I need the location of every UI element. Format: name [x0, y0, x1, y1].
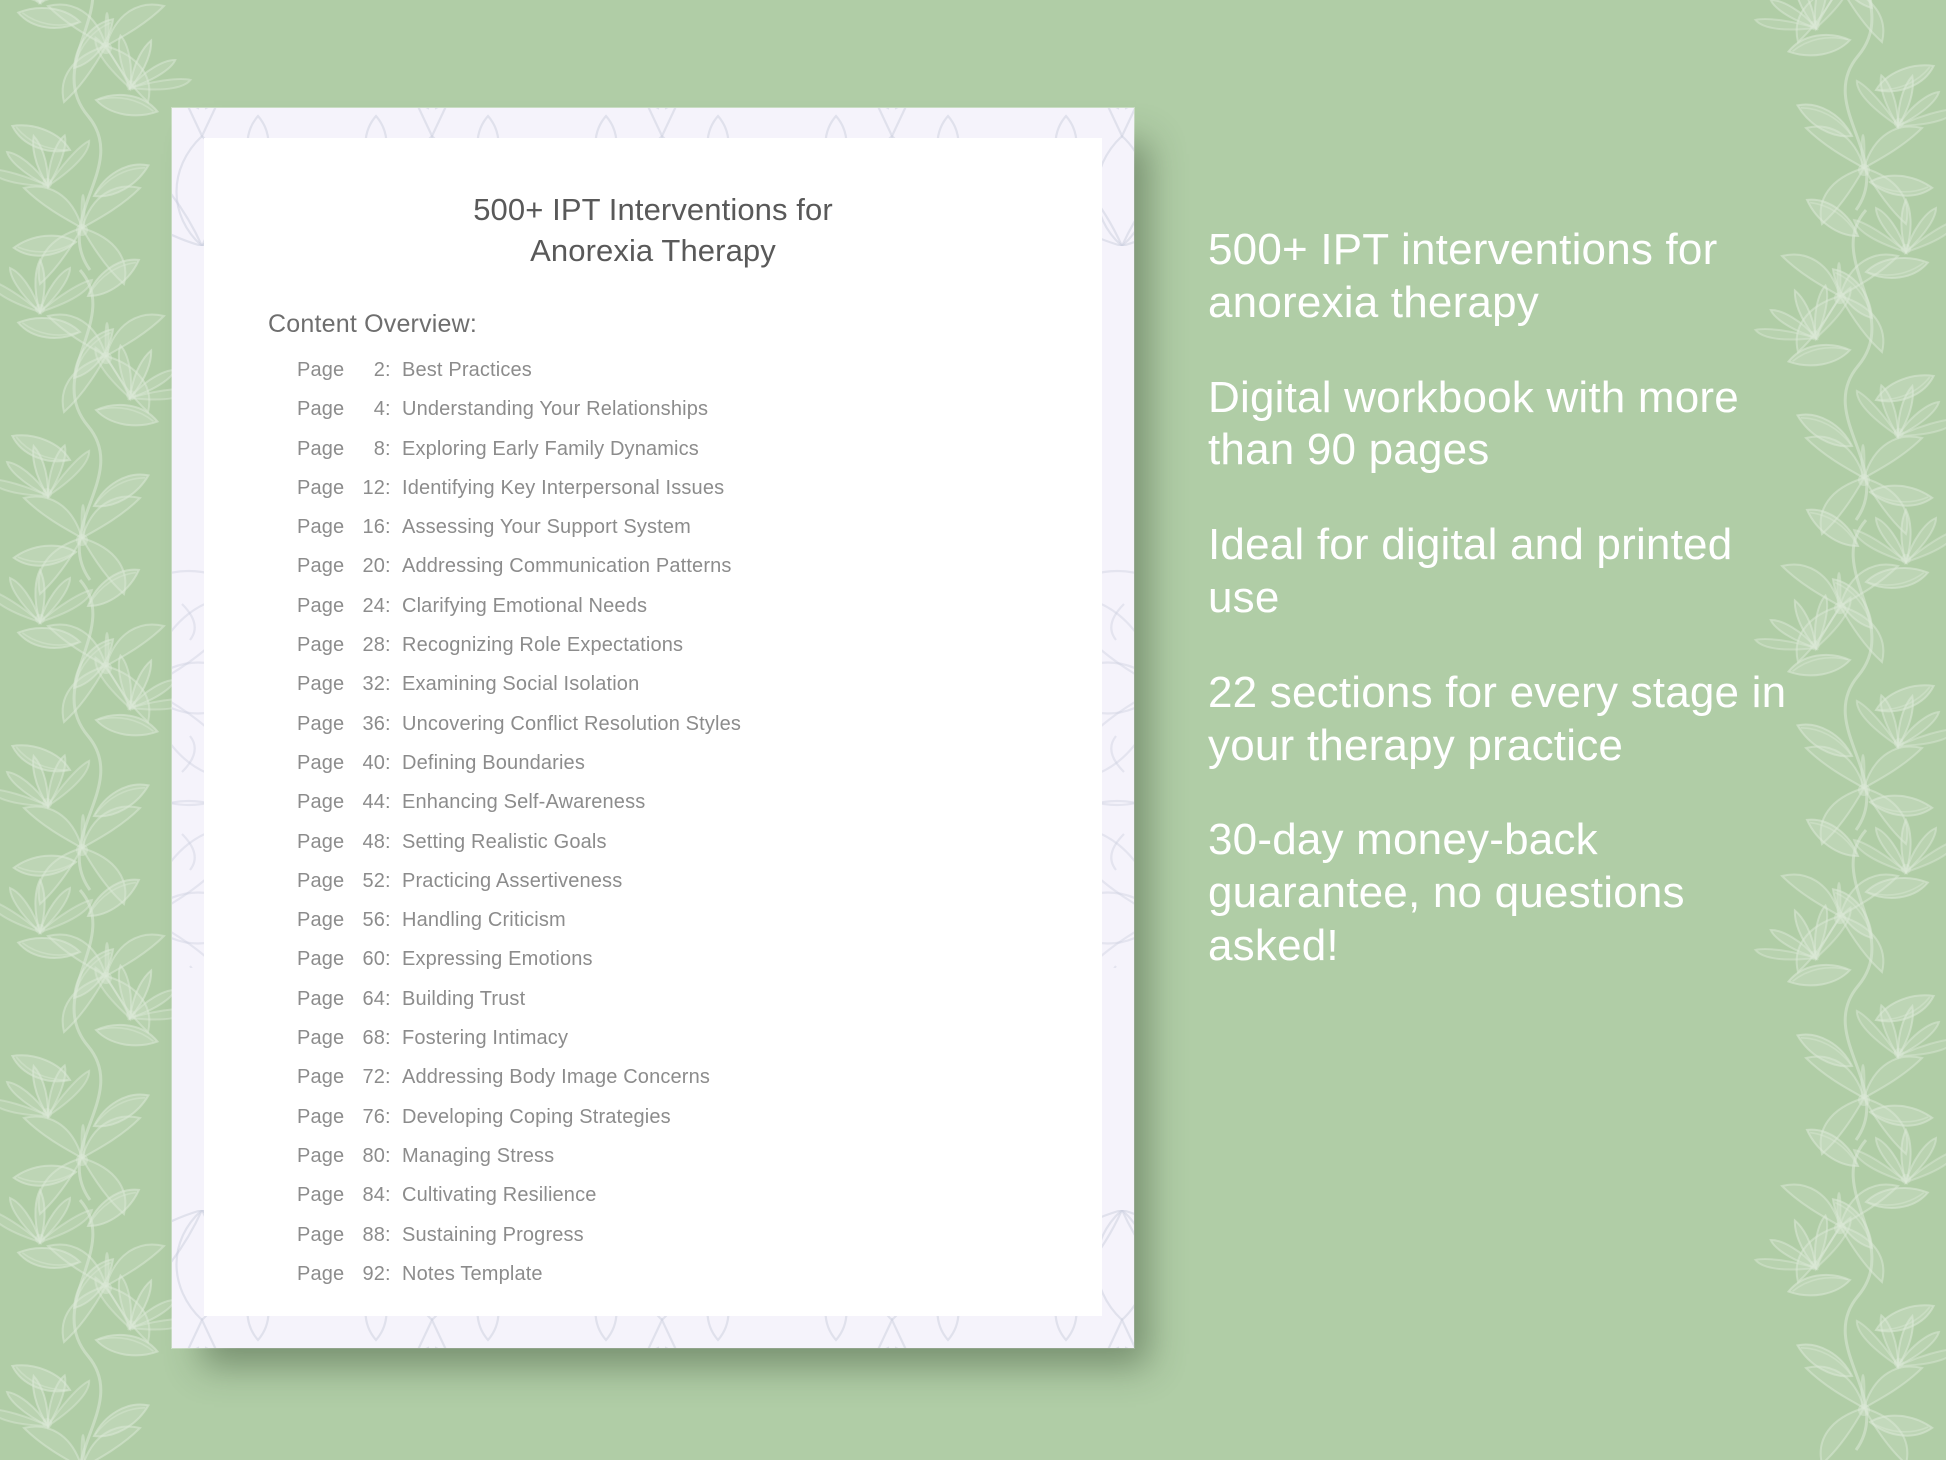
toc-page-word: Page	[297, 595, 343, 618]
toc-colon: :	[385, 595, 402, 618]
toc-page-word: Page	[297, 1224, 343, 1247]
toc-colon: :	[385, 673, 402, 696]
content-overview-label: Content Overview:	[268, 310, 477, 339]
toc-colon: :	[385, 948, 402, 971]
toc-page-number: 52	[343, 870, 385, 893]
toc-colon: :	[385, 438, 402, 461]
toc-colon: :	[385, 1066, 402, 1089]
toc-entry-title: Defining Boundaries	[402, 752, 585, 775]
toc-page-number: 4	[343, 398, 385, 421]
toc-row[interactable]: Page68:Fostering Intimacy	[297, 1027, 1067, 1066]
toc-entry-title: Identifying Key Interpersonal Issues	[402, 477, 724, 500]
toc-colon: :	[385, 988, 402, 1011]
toc-page-word: Page	[297, 1184, 343, 1207]
toc-colon: :	[385, 870, 402, 893]
toc-row[interactable]: Page4:Understanding Your Relationships	[297, 398, 1067, 437]
toc-colon: :	[385, 1224, 402, 1247]
toc-page-word: Page	[297, 988, 343, 1011]
toc-row[interactable]: Page72:Addressing Body Image Concerns	[297, 1066, 1067, 1105]
toc-page-word: Page	[297, 555, 343, 578]
toc-entry-title: Developing Coping Strategies	[402, 1106, 671, 1129]
toc-page-word: Page	[297, 1027, 343, 1050]
toc-entry-title: Fostering Intimacy	[402, 1027, 568, 1050]
toc-colon: :	[385, 831, 402, 854]
toc-page-word: Page	[297, 359, 343, 382]
toc-entry-title: Setting Realistic Goals	[402, 831, 607, 854]
toc-row[interactable]: Page48:Setting Realistic Goals	[297, 831, 1067, 870]
toc-page-number: 40	[343, 752, 385, 775]
marketing-bullet: 500+ IPT interventions for anorexia ther…	[1208, 224, 1808, 330]
toc-page-word: Page	[297, 870, 343, 893]
marketing-bullet: 30-day money-back guarantee, no question…	[1208, 814, 1808, 972]
toc-page-number: 76	[343, 1106, 385, 1129]
toc-page-word: Page	[297, 634, 343, 657]
toc-colon: :	[385, 477, 402, 500]
toc-page-number: 72	[343, 1066, 385, 1089]
toc-page-word: Page	[297, 1263, 343, 1286]
toc-colon: :	[385, 555, 402, 578]
toc-page-number: 60	[343, 948, 385, 971]
toc-page-number: 92	[343, 1263, 385, 1286]
toc-page-number: 28	[343, 634, 385, 657]
page-title-line-2: Anorexia Therapy	[204, 231, 1102, 272]
toc-entry-title: Sustaining Progress	[402, 1224, 584, 1247]
toc-page-word: Page	[297, 516, 343, 539]
toc-entry-title: Expressing Emotions	[402, 948, 593, 971]
toc-row[interactable]: Page28:Recognizing Role Expectations	[297, 634, 1067, 673]
toc-colon: :	[385, 516, 402, 539]
toc-page-number: 44	[343, 791, 385, 814]
toc-page-number: 8	[343, 438, 385, 461]
toc-row[interactable]: Page12:Identifying Key Interpersonal Iss…	[297, 477, 1067, 516]
toc-colon: :	[385, 791, 402, 814]
toc-page-number: 88	[343, 1224, 385, 1247]
toc-entry-title: Notes Template	[402, 1263, 543, 1286]
toc-row[interactable]: Page60:Expressing Emotions	[297, 948, 1067, 987]
toc-row[interactable]: Page52:Practicing Assertiveness	[297, 870, 1067, 909]
toc-page-number: 20	[343, 555, 385, 578]
toc-row[interactable]: Page32:Examining Social Isolation	[297, 673, 1067, 712]
toc-row[interactable]: Page8:Exploring Early Family Dynamics	[297, 438, 1067, 477]
document-page: 500+ IPT Interventions for Anorexia Ther…	[204, 138, 1102, 1316]
toc-row[interactable]: Page92:Notes Template	[297, 1263, 1067, 1302]
toc-page-number: 32	[343, 673, 385, 696]
toc-colon: :	[385, 1263, 402, 1286]
toc-page-number: 36	[343, 713, 385, 736]
toc-entry-title: Clarifying Emotional Needs	[402, 595, 647, 618]
toc-page-number: 16	[343, 516, 385, 539]
marketing-bullet: Digital workbook with more than 90 pages	[1208, 372, 1808, 478]
toc-row[interactable]: Page56:Handling Criticism	[297, 909, 1067, 948]
toc-page-word: Page	[297, 477, 343, 500]
toc-page-word: Page	[297, 398, 343, 421]
toc-entry-title: Cultivating Resilience	[402, 1184, 597, 1207]
page-title: 500+ IPT Interventions for Anorexia Ther…	[204, 190, 1102, 272]
toc-page-word: Page	[297, 713, 343, 736]
toc-page-number: 24	[343, 595, 385, 618]
marketing-bullet: Ideal for digital and printed use	[1208, 519, 1808, 625]
toc-page-number: 80	[343, 1145, 385, 1168]
toc-page-number: 12	[343, 477, 385, 500]
toc-row[interactable]: Page88:Sustaining Progress	[297, 1224, 1067, 1263]
toc-entry-title: Best Practices	[402, 359, 532, 382]
toc-entry-title: Understanding Your Relationships	[402, 398, 708, 421]
toc-page-word: Page	[297, 1106, 343, 1129]
marketing-bullet: 22 sections for every stage in your ther…	[1208, 667, 1808, 773]
marketing-bullet-list: 500+ IPT interventions for anorexia ther…	[1208, 224, 1808, 973]
toc-entry-title: Exploring Early Family Dynamics	[402, 438, 699, 461]
toc-colon: :	[385, 713, 402, 736]
toc-page-word: Page	[297, 831, 343, 854]
toc-row[interactable]: Page2:Best Practices	[297, 359, 1067, 398]
toc-page-number: 84	[343, 1184, 385, 1207]
toc-row[interactable]: Page36:Uncovering Conflict Resolution St…	[297, 713, 1067, 752]
toc-row[interactable]: Page80:Managing Stress	[297, 1145, 1067, 1184]
toc-entry-title: Uncovering Conflict Resolution Styles	[402, 713, 741, 736]
toc-page-number: 56	[343, 909, 385, 932]
toc-entry-title: Building Trust	[402, 988, 525, 1011]
toc-colon: :	[385, 1184, 402, 1207]
toc-entry-title: Addressing Body Image Concerns	[402, 1066, 710, 1089]
toc-page-word: Page	[297, 438, 343, 461]
table-of-contents-list: Page2:Best PracticesPage4:Understanding …	[297, 359, 1067, 1302]
toc-entry-title: Practicing Assertiveness	[402, 870, 622, 893]
toc-colon: :	[385, 752, 402, 775]
toc-colon: :	[385, 359, 402, 382]
toc-page-word: Page	[297, 752, 343, 775]
toc-page-word: Page	[297, 909, 343, 932]
poster-stage: 500+ IPT Interventions for Anorexia Ther…	[0, 0, 1946, 1460]
toc-entry-title: Examining Social Isolation	[402, 673, 639, 696]
toc-row[interactable]: Page44:Enhancing Self-Awareness	[297, 791, 1067, 830]
toc-colon: :	[385, 1027, 402, 1050]
toc-colon: :	[385, 1145, 402, 1168]
toc-row[interactable]: Page76:Developing Coping Strategies	[297, 1106, 1067, 1145]
toc-page-word: Page	[297, 673, 343, 696]
toc-page-word: Page	[297, 791, 343, 814]
toc-colon: :	[385, 634, 402, 657]
toc-row[interactable]: Page20:Addressing Communication Patterns	[297, 555, 1067, 594]
toc-page-word: Page	[297, 1066, 343, 1089]
toc-page-number: 68	[343, 1027, 385, 1050]
toc-row[interactable]: Page84:Cultivating Resilience	[297, 1184, 1067, 1223]
toc-entry-title: Managing Stress	[402, 1145, 554, 1168]
toc-page-number: 64	[343, 988, 385, 1011]
toc-row[interactable]: Page24:Clarifying Emotional Needs	[297, 595, 1067, 634]
toc-page-word: Page	[297, 948, 343, 971]
toc-colon: :	[385, 909, 402, 932]
toc-row[interactable]: Page40:Defining Boundaries	[297, 752, 1067, 791]
toc-entry-title: Assessing Your Support System	[402, 516, 691, 539]
toc-page-number: 48	[343, 831, 385, 854]
toc-row[interactable]: Page16:Assessing Your Support System	[297, 516, 1067, 555]
toc-page-number: 2	[343, 359, 385, 382]
toc-page-word: Page	[297, 1145, 343, 1168]
toc-entry-title: Handling Criticism	[402, 909, 566, 932]
toc-entry-title: Enhancing Self-Awareness	[402, 791, 645, 814]
toc-entry-title: Addressing Communication Patterns	[402, 555, 732, 578]
toc-colon: :	[385, 1106, 402, 1129]
toc-colon: :	[385, 398, 402, 421]
page-title-line-1: 500+ IPT Interventions for	[204, 190, 1102, 231]
toc-entry-title: Recognizing Role Expectations	[402, 634, 683, 657]
toc-row[interactable]: Page64:Building Trust	[297, 988, 1067, 1027]
document-card[interactable]: 500+ IPT Interventions for Anorexia Ther…	[172, 108, 1134, 1348]
